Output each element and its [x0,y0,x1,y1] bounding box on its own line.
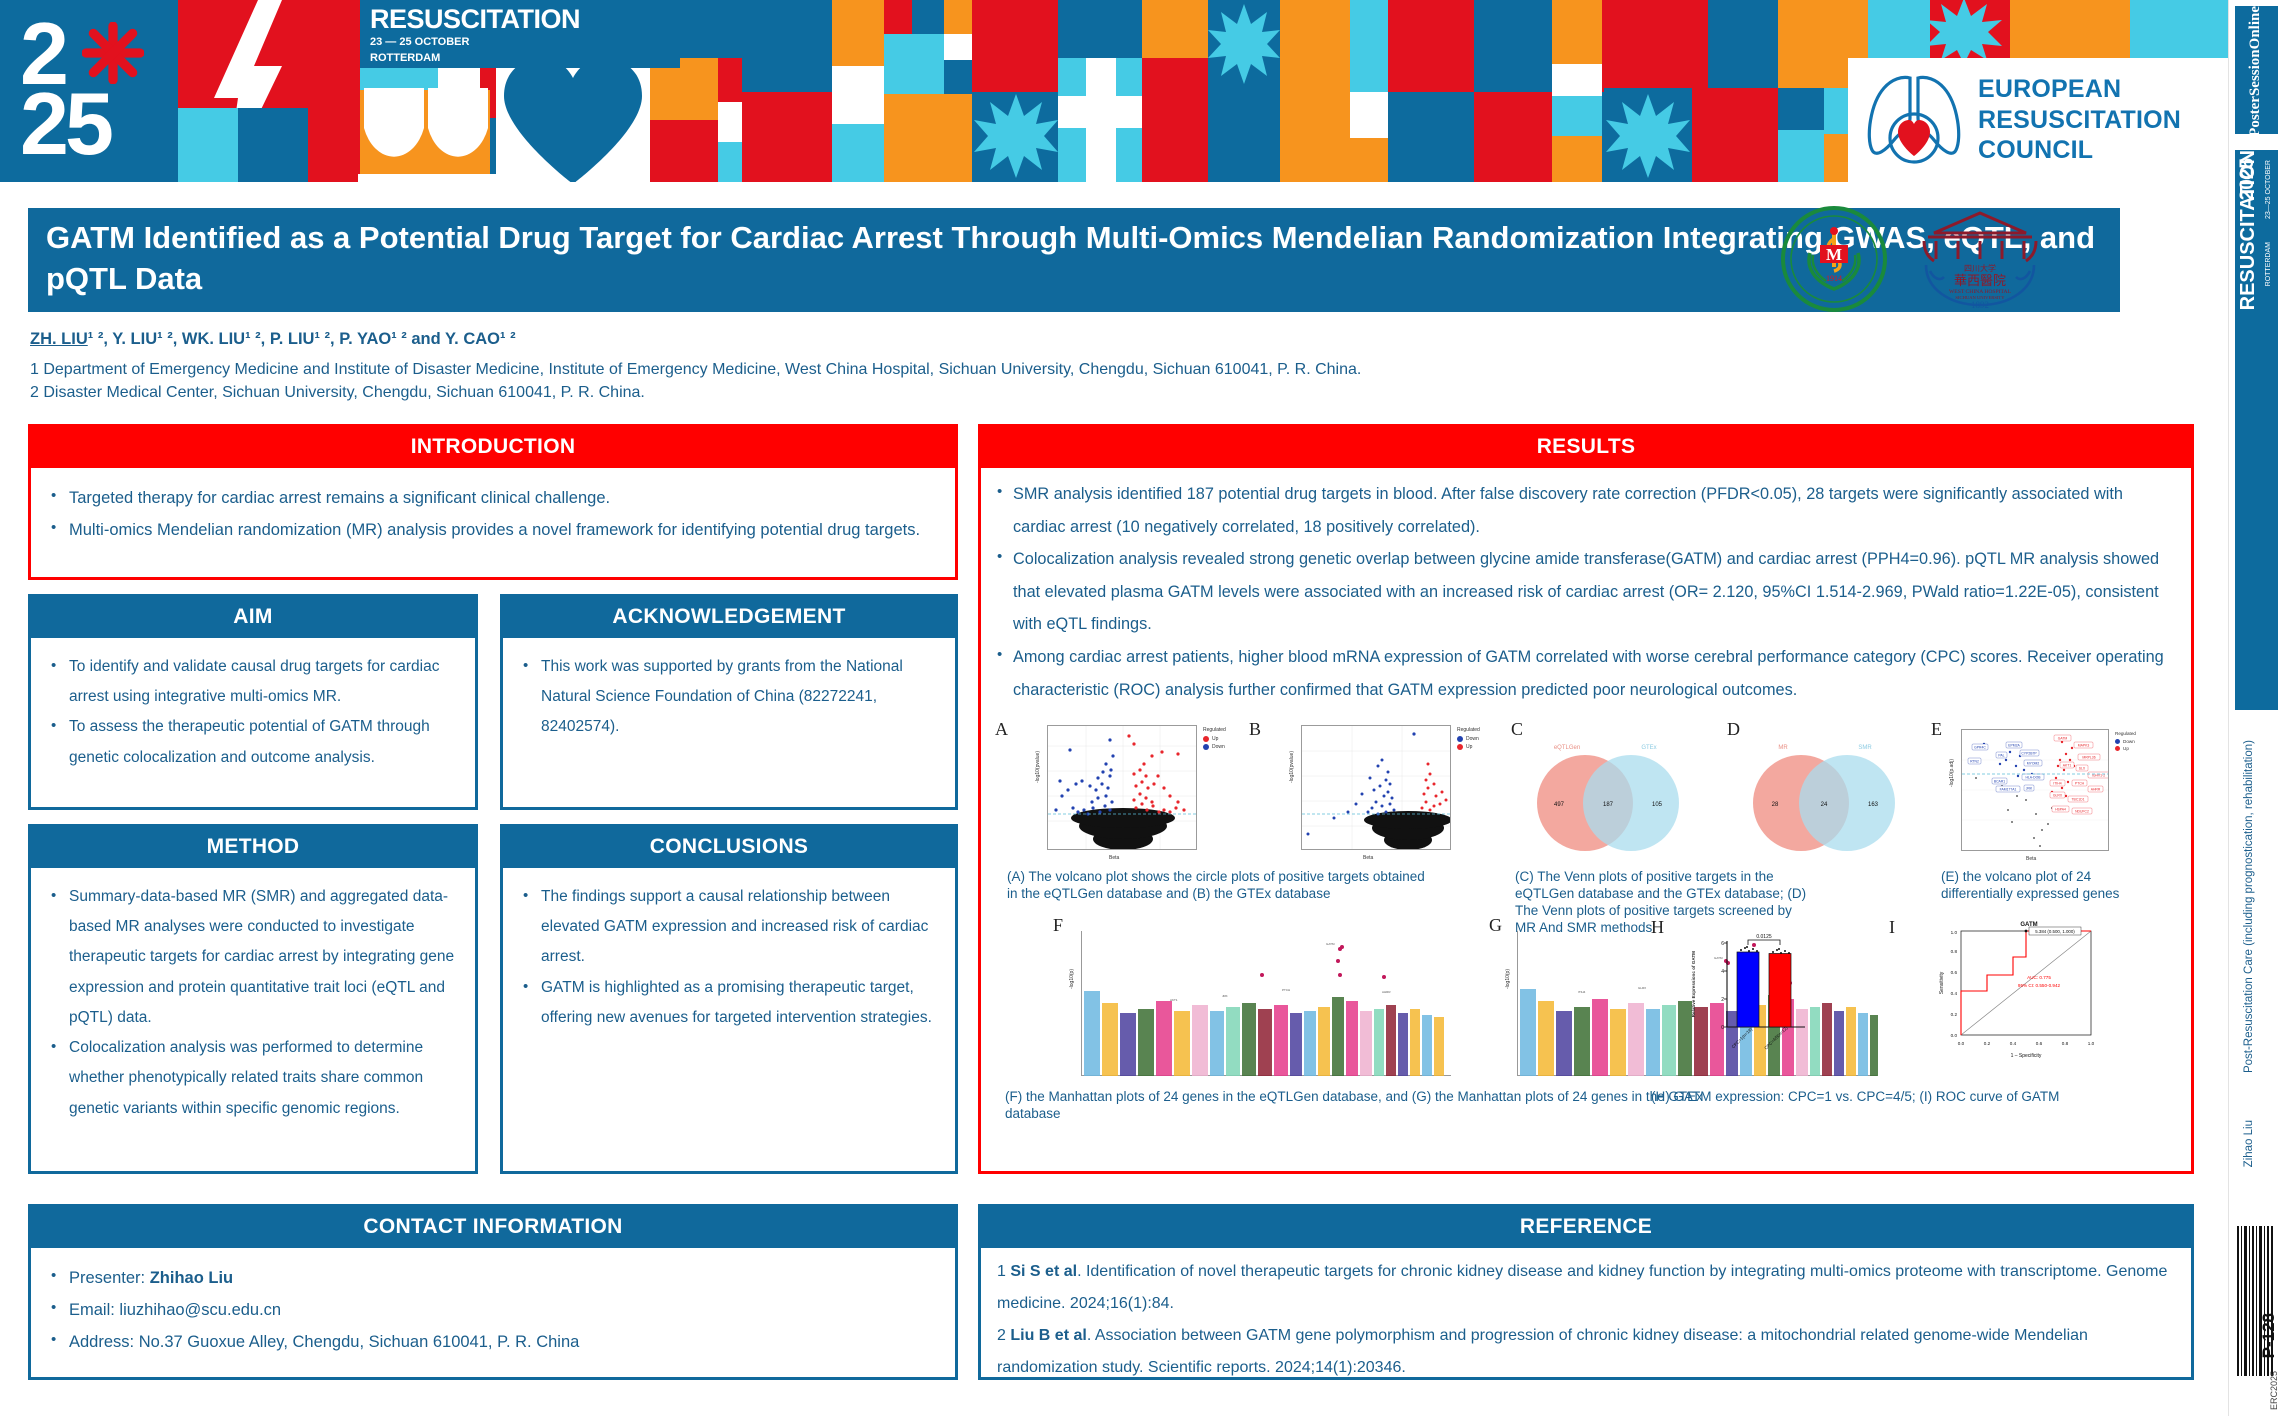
banner-tile [1552,0,1602,64]
list-item: Among cardiac arrest patients, higher bl… [993,641,2177,706]
list-item: Summary-data-based MR (SMR) and aggregat… [47,882,459,1033]
panel-c-value-b: 105 [1652,802,1663,808]
banner-tile [1626,0,1708,92]
star-burst-icon [1924,0,2004,60]
sidebar-category-label: Post-Resuscitation Care (including progn… [2243,740,2255,1073]
event-city: ROTTERDAM [370,52,672,65]
method-panel: METHOD Summary-data-based MR (SMR) and a… [28,824,478,1174]
right-sidebar: PosterSessionOnline RESUSCITATION 2025 2… [2228,0,2283,1416]
event-dates: 23 — 25 OCTOBER [370,36,672,49]
star-burst-icon [972,90,1060,182]
year-logo: 2 25 [0,0,178,182]
svg-text:EPM2A: EPM2A [2008,744,2020,748]
svg-text:1914: 1914 [1826,274,1842,283]
banner-tile [718,142,742,182]
svg-text:0.0: 0.0 [1958,1041,1965,1046]
panel-i-auc-label: AUC: 0.775 [2027,975,2051,980]
contact-heading: CONTACT INFORMATION [31,1207,955,1248]
svg-text:1.0: 1.0 [2088,1041,2095,1046]
banner-tile [944,34,972,60]
svg-text:0.2: 0.2 [1984,1041,1991,1046]
banner-tile [1474,92,1552,182]
panel-f-plot-area: GATMJRK PTCHAHRR AKT1 [1082,931,1452,1076]
legend-label-up: Up [1212,736,1218,742]
panel-i-ylabel: Sensitivity [1939,971,1945,994]
legend-item: Down [2115,739,2136,744]
affiliations: 1 Department of Emergency Medicine and I… [30,358,1361,404]
results-heading: RESULTS [981,427,2191,468]
legend-item: Down [1203,744,1226,750]
method-body: Summary-data-based MR (SMR) and aggregat… [31,868,475,1134]
svg-text:0.2: 0.2 [1951,1012,1958,1017]
panel-h-category-2: CPC=4/5(n=12) [1763,1025,1789,1051]
aim-list: To identify and validate causal drug tar… [47,652,459,773]
figure-caption-hi: (H) GATM expression: CPC=1 vs. CPC=4/5; … [1651,1089,2111,1106]
legend-label-down: Down [1212,744,1225,750]
banner-tile [1388,92,1474,182]
legend-swatch-up [2115,746,2120,751]
introduction-heading: INTRODUCTION [31,427,955,468]
svg-text:TBC1D1: TBC1D1 [2071,798,2084,802]
svg-text:HSPA4: HSPA4 [2055,808,2066,812]
panel-d-venn-chart: MR SMR 28 24 163 [1735,733,1913,857]
results-body: SMR analysis identified 187 potential dr… [981,468,2191,706]
tulip-icon [358,88,496,182]
poster-session-online-block: PosterSessionOnline [2235,6,2278,134]
svg-text:華西醫院: 華西醫院 [1954,273,2006,288]
svg-text:GLRX: GLRX [2053,794,2063,798]
svg-text:4: 4 [1721,969,1724,975]
figure-caption-e: (E) the volcano plot of 24 differentiall… [1941,869,2156,903]
conference-banner: 2 25 RESUSCITATION 23 — 25 OCTOBER ROTTE… [0,0,2228,182]
panel-e-plot-area: GPR4C EPM2A PAL CYP2B7P RTN2 MYOM2 BCAR1 [1962,730,2109,851]
legend-swatch-up [1203,736,1209,742]
legend-item: Up [1203,736,1226,742]
panel-h-bar-chart: 02 46 [1697,931,1819,1053]
svg-text:0.0: 0.0 [1951,1033,1958,1038]
panel-f-label: F [1053,915,1063,936]
svg-text:SLX: SLX [2079,767,2086,771]
panel-b-legend: Regulated Down Up [1457,727,1480,750]
banner-tile [308,0,360,182]
panel-h-plot-area: 02 46 [1697,931,1819,1053]
panel-i-label: I [1889,917,1895,938]
introduction-panel: INTRODUCTION Targeted therapy for cardia… [28,424,958,580]
banner-tile [718,58,742,102]
legend-item: Down [1457,736,1480,742]
erc-logo-block: EUROPEAN RESUSCITATION COUNCIL [1848,58,2228,182]
panel-d-value-a: 28 [1772,802,1779,808]
panel-i-ci-label: 95% CI: 0.550-0.942 [2018,983,2061,988]
panel-a-legend: Regulated Up Down [1203,727,1226,750]
presenter-name: Zhihao Liu [150,1269,233,1287]
legend-swatch-down [2115,739,2120,744]
conclusions-body: The findings support a causal relationsh… [503,868,955,1043]
presenting-author: ZH. LIU [30,330,88,348]
svg-text:M: M [1826,245,1842,264]
list-item: To identify and validate causal drug tar… [47,652,459,712]
conclusions-list: The findings support a causal relationsh… [519,882,939,1033]
panel-a-ylabel: -log10(pvalue) [1035,751,1041,783]
vertical-event-block: RESUSCITATION 2025 23—25 OCTOBER ROTTERD… [2235,150,2278,710]
affiliation-1: 1 Department of Emergency Medicine and I… [30,358,1361,381]
banner-tile [972,0,1058,92]
panel-g-label: G [1489,915,1502,936]
svg-text:JRK: JRK [2026,787,2033,791]
panel-i-xlabel: 1 – Specificity [2011,1053,2042,1059]
legend-label-up: Up [1466,744,1472,750]
svg-text:MYOM2: MYOM2 [2027,762,2040,766]
svg-text:ITIH4: ITIH4 [2053,782,2061,786]
banner-tile [944,60,972,94]
poster-root: 2 25 RESUSCITATION 23 — 25 OCTOBER ROTTE… [0,0,2283,1416]
banner-tile [1388,0,1474,92]
author-superscript: ¹ ² [88,330,104,348]
panel-g-ylabel: -log10(p) [1505,969,1511,989]
poster-number-label: P-128 [2259,1313,2279,1358]
panel-d-value-ab: 24 [1821,802,1828,808]
svg-text:0: 0 [1721,1025,1724,1031]
banner-tile [1280,0,1350,182]
svg-text:1.0: 1.0 [1951,930,1958,935]
banner-tile [1778,88,1824,130]
banner-tile [238,108,308,182]
svg-text:AHRR: AHRR [2091,788,2101,792]
presenter-label: Presenter [69,1269,141,1287]
contact-body: Presenter: Zhihao Liu Email: liuzhihao@s… [31,1248,955,1369]
svg-text:AHRR: AHRR [1382,990,1391,994]
svg-text:BCAR1: BCAR1 [1994,780,2005,784]
svg-text:GPR4C: GPR4C [1974,746,1986,750]
list-item-presenter: Presenter: Zhihao Liu [47,1262,939,1294]
figure-zone: A [991,719,2181,1159]
banner-tile [1552,96,1602,136]
svg-text:RTN2: RTN2 [1970,760,1979,764]
lungs-heart-icon [1860,66,1968,174]
introduction-list: Targeted therapy for cardiac arrest rema… [47,482,939,546]
figure-caption-fg: (F) the Manhattan plots of 24 genes in t… [1005,1089,1725,1123]
event-title: RESUSCITATION [370,6,672,33]
list-item-address: Address: No.37 Guoxue Alley, Chengdu, Si… [47,1326,939,1358]
star-burst-icon [1604,88,1692,182]
banner-tile [742,0,832,92]
panel-f-manhattan-chart: GATMJRK PTCHAHRR AKT1 [1081,931,1451,1076]
erc-line-2: RESUSCITATION [1978,105,2181,136]
svg-text:2: 2 [1721,997,1724,1003]
authors-line: ZH. LIU¹ ², Y. LIU¹ ², WK. LIU¹ ², P. LI… [30,330,516,349]
legend-item: Up [1457,744,1480,750]
banner-tile [944,0,972,34]
panel-c-set-a-label: eQTLGen [1554,745,1580,751]
list-item: The findings support a causal relationsh… [519,882,939,973]
banner-tile [884,0,912,34]
banner-tile [884,94,972,182]
panel-i-roc-chart: GATM 5.384 (0.500, 1.000) AUC: 0.775 95%… [1921,917,2121,1067]
banner-tile [1552,136,1602,182]
panel-h-ylabel: Relative Expressionc of GATM [1691,951,1696,1017]
banner-tile [1692,88,1778,182]
banner-tile [832,124,884,182]
year-digits-25: 25 [20,88,110,160]
svg-text:0.6: 0.6 [1951,970,1958,975]
svg-text:GATM: GATM [1326,942,1335,946]
conclusions-heading: CONCLUSIONS [503,827,955,868]
reference-panel: REFERENCE 1 Si S et al. Identification o… [978,1204,2194,1380]
svg-text:HLA-DOB: HLA-DOB [2025,776,2041,780]
panel-d-set-a-label: MR [1778,745,1788,751]
aim-body: To identify and validate causal drug tar… [31,638,475,783]
svg-text:0.4: 0.4 [1951,991,1958,996]
panel-c-value-ab: 187 [1603,802,1614,808]
panel-e-label: E [1931,719,1942,740]
authors-rest: , Y. LIU¹ ², WK. LIU¹ ², P. LIU¹ ², P. Y… [103,330,515,348]
banner-tile [1058,96,1142,128]
list-item: Targeted therapy for cardiac arrest rema… [47,482,939,514]
acknowledgement-panel: ACKNOWLEDGEMENT This work was supported … [500,594,958,810]
svg-text:PTCH: PTCH [1282,988,1290,992]
panel-c-venn-chart: eQTLGen GTEx 497 187 105 [1519,733,1697,857]
svg-text:MAPK3: MAPK3 [2078,744,2090,748]
legend-item: Up [2115,746,2136,751]
reference-item: 2 Liu B et al. Association between GATM … [997,1320,2175,1384]
panel-b-label: B [1249,719,1261,740]
banner-tile [742,92,832,182]
svg-text:0.8: 0.8 [1951,949,1958,954]
panel-a-xlabel: Beta [1109,855,1119,861]
legend-swatch-down [1203,744,1209,750]
svg-text:四川大学: 四川大学 [1964,263,1996,273]
banner-tile [832,0,884,66]
svg-text:CYP2B7P: CYP2B7P [2021,752,2037,756]
panel-i-cutoff-label: 5.384 (0.500, 1.000) [2035,929,2075,934]
panel-d-value-b: 163 [1868,802,1879,808]
banner-tile [832,66,884,124]
svg-text:1892: 1892 [1971,300,1989,310]
svg-text:0.8: 0.8 [2062,1041,2069,1046]
list-item: To assess the therapeutic potential of G… [47,712,459,772]
panel-e-volcano-chart: GPR4C EPM2A PAL CYP2B7P RTN2 MYOM2 BCAR1 [1961,729,2109,851]
svg-text:FAM177A1: FAM177A1 [2000,788,2017,792]
aim-heading: AIM [31,597,475,638]
banner-tile [2010,0,2130,58]
panel-e-xlabel: Beta [2026,856,2036,862]
list-item: This work was supported by grants from t… [519,652,939,743]
panel-h-label: H [1651,917,1664,938]
heart-icon [498,56,648,182]
banner-tile [1350,0,1388,92]
west-china-school-of-medicine-logo-icon: M 1914 [1780,205,1888,313]
banner-tile [718,102,742,142]
banner-tile [178,108,238,182]
panel-i-plot-area: GATM 5.384 (0.500, 1.000) AUC: 0.775 95%… [1921,917,2121,1067]
contact-panel: CONTACT INFORMATION Presenter: Zhihao Li… [28,1204,958,1380]
panel-a-plot-area [1048,726,1197,850]
banner-tile [912,0,944,34]
banner-tile [1868,0,1930,58]
reference-item: 1 Si S et al. Identification of novel th… [997,1256,2175,1320]
panel-a-label: A [995,719,1008,740]
banner-tile [1350,138,1388,182]
university-logos: M 1914 四川大学 華西醫院 WEST CHINA HOSPITAL SIC… [1780,204,2160,314]
reference-text: . Identification of novel therapeutic ta… [997,1263,2167,1312]
panel-b-legend-title: Regulated [1457,727,1480,733]
event-title-block: RESUSCITATION 23 — 25 OCTOBER ROTTERDAM [360,0,680,68]
west-china-hospital-logo-icon: 四川大学 華西醫院 WEST CHINA HOSPITAL SICHUAN UN… [1914,207,2046,311]
banner-tile [1058,0,1142,58]
star-burst-icon [1206,0,1282,90]
method-heading: METHOD [31,827,475,868]
panel-b-volcano-chart [1301,725,1451,850]
vertical-year-label: 2025 [2237,158,2259,200]
svg-text:MRPL36: MRPL36 [2082,756,2095,760]
svg-text:GLRX: GLRX [1638,986,1646,990]
banner-tile [1142,0,1208,58]
legend-label-down: Down [1466,736,1479,742]
legend-label-up: Up [2123,746,2129,751]
reference-number: 1 [997,1263,1006,1280]
acknowledgement-heading: ACKNOWLEDGEMENT [503,597,955,638]
list-item: Colocalization analysis was performed to… [47,1033,459,1124]
legend-label-down: Down [2123,739,2135,744]
erc-name: EUROPEAN RESUSCITATION COUNCIL [1978,74,2181,166]
reference-body: 1 Si S et al. Identification of novel th… [981,1248,2191,1392]
panel-c-value-a: 497 [1554,802,1565,808]
sidebar-author-label: Zihao Liu [2243,1120,2255,1167]
svg-text:0.4: 0.4 [2010,1041,2017,1046]
list-item: Colocalization analysis revealed strong … [993,543,2177,641]
reference-text: . Association between GATM gene polymorp… [997,1327,2088,1376]
asterisk-icon [82,22,144,84]
results-panel: RESULTS SMR analysis identified 187 pote… [978,424,2194,1174]
poster-session-online-label: PosterSessionOnline [2247,6,2264,143]
banner-tile [1778,130,1824,182]
panel-h-category-1: CPC=1(n=18) [1731,1026,1754,1049]
figure-caption-ab: (A) The volcano plot shows the circle pl… [1007,869,1437,903]
panel-e-legend: Regulated Down Up [2115,731,2136,751]
banner-tile [1142,58,1208,182]
contact-list: Presenter: Zhihao Liu Email: liuzhihao@s… [47,1262,939,1359]
banner-tile [1708,0,1778,88]
erc-code-label: ERC2025 [2269,1371,2279,1410]
list-item: Multi-omics Mendelian randomization (MR)… [47,514,939,546]
svg-text:GATM: GATM [2058,737,2068,741]
svg-text:AKT1: AKT1 [2063,764,2072,768]
panel-a-volcano-chart [1047,725,1197,850]
svg-text:AKT1: AKT1 [1170,998,1178,1002]
panel-d-set-b-label: SMR [1858,745,1872,751]
conclusions-panel: CONCLUSIONS The findings support a causa… [500,824,958,1174]
panel-f-ylabel: -log10(p) [1069,969,1075,989]
list-item: GATM is highlighted as a promising thera… [519,973,939,1033]
panel-e-legend-title: Regulated [2115,731,2136,736]
vertical-city-label: ROTTERDAM [2265,242,2272,286]
acknowledgement-list: This work was supported by grants from t… [519,652,939,743]
results-list: SMR analysis identified 187 potential dr… [993,478,2177,706]
banner-tile [884,34,944,94]
panel-b-plot-area [1302,726,1451,850]
vertical-dates-label: 23—25 OCTOBER [2265,160,2272,219]
panel-a-legend-title: Regulated [1203,727,1226,733]
banner-tile [2130,0,2228,58]
banner-tile [1350,92,1388,138]
svg-text:6: 6 [1721,941,1724,947]
svg-text:0.6: 0.6 [2036,1041,2043,1046]
banner-tile [1602,0,1626,92]
banner-tile [1474,0,1552,92]
panel-b-ylabel: -log10(pvalue) [1289,751,1295,783]
erc-line-3: COUNCIL [1978,135,2181,166]
affiliation-2: 2 Disaster Medical Center, Sichuan Unive… [30,381,1361,404]
panel-b-xlabel: Beta [1363,855,1373,861]
legend-swatch-up [1457,744,1463,750]
svg-text:NDUFC2: NDUFC2 [2075,810,2089,814]
figure-caption-cd: (C) The Venn plots of positive targets i… [1515,869,1815,937]
svg-text:PTCH: PTCH [2075,782,2085,786]
banner-tile [1552,64,1602,96]
legend-swatch-down [1457,736,1463,742]
acknowledgement-body: This work was supported by grants from t… [503,638,955,753]
svg-text:JRK: JRK [1222,994,1228,998]
introduction-body: Targeted therapy for cardiac arrest rema… [31,468,955,556]
reference-authors: Si S et al [1010,1263,1077,1280]
banner-tile [1208,92,1280,182]
panel-c-set-b-label: GTEx [1641,745,1656,751]
method-list: Summary-data-based MR (SMR) and aggregat… [47,882,459,1124]
panel-e-ylabel: -log10(p.adj) [1949,759,1955,787]
reference-heading: REFERENCE [981,1207,2191,1248]
list-item-email[interactable]: Email: liuzhihao@scu.edu.cn [47,1294,939,1326]
svg-text:ITIH4: ITIH4 [1578,990,1586,994]
svg-text:PAL: PAL [1998,754,2004,758]
reference-authors: Liu B et al [1010,1327,1086,1344]
panel-h-pvalue-label: 0.0125 [1756,934,1772,940]
list-item: SMR analysis identified 187 potential dr… [993,478,2177,543]
banner-tile [650,120,718,182]
aim-panel: AIM To identify and validate causal drug… [28,594,478,810]
erc-line-1: EUROPEAN [1978,74,2181,105]
reference-number: 2 [997,1327,1006,1344]
